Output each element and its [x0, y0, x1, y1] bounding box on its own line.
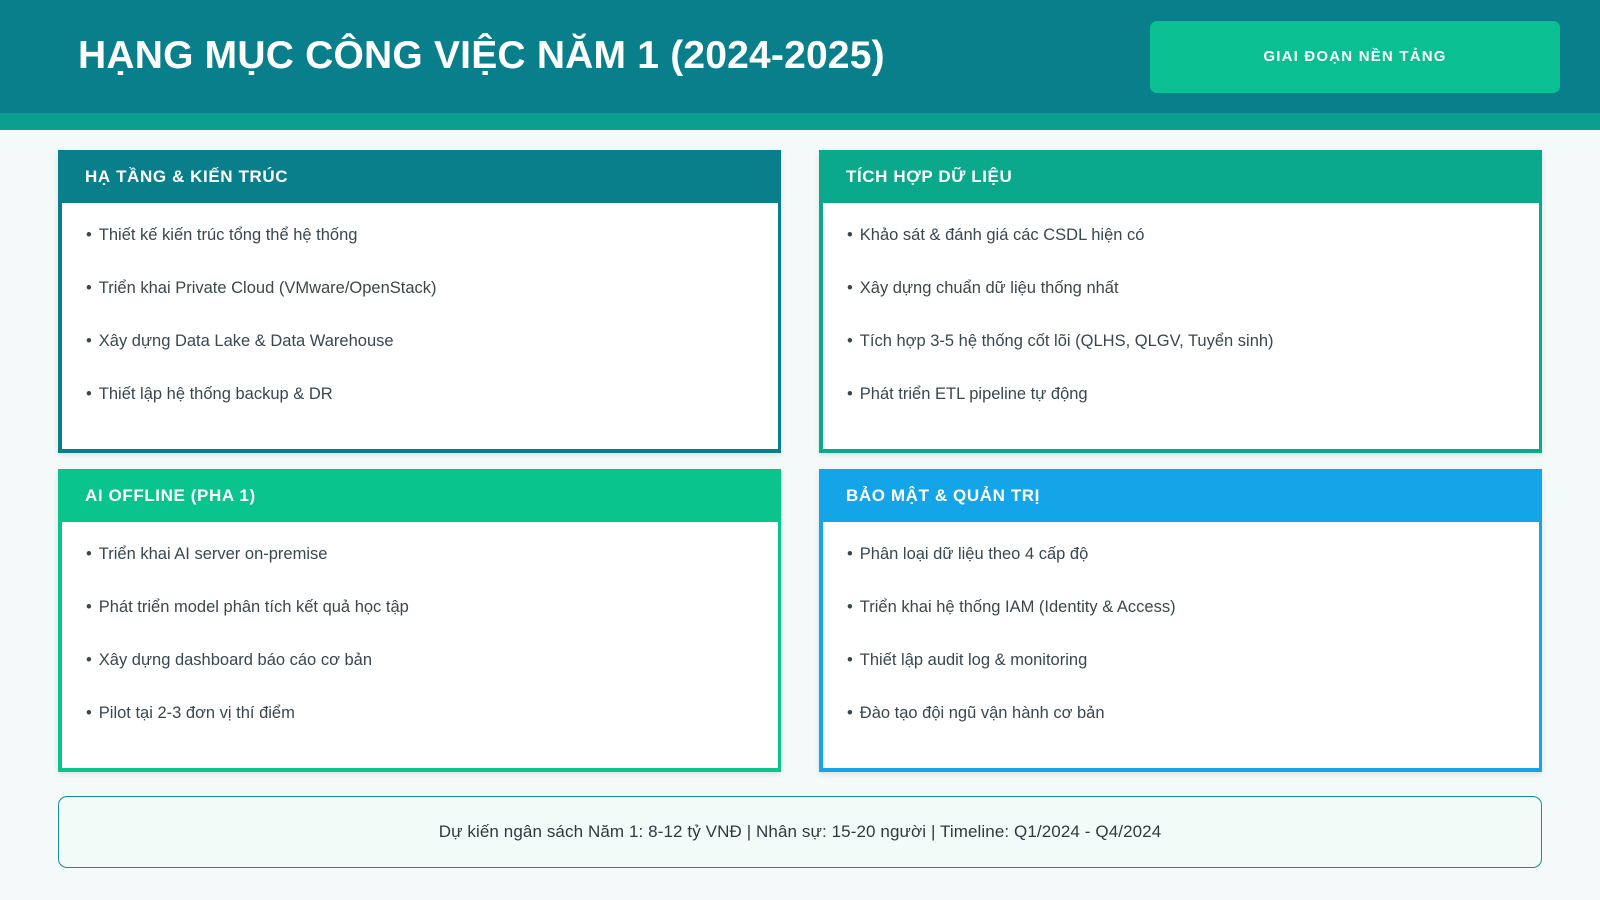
card-title: TÍCH HỢP DỮ LIỆU: [846, 167, 1012, 187]
list-item-label: Triển khai AI server on-premise: [99, 544, 754, 565]
list-item-label: Thiết lập hệ thống backup & DR: [99, 384, 754, 405]
bullet-icon: •: [847, 650, 853, 671]
card-infrastructure[interactable]: HẠ TẦNG & KIẾN TRÚC • Thiết kế kiến trúc…: [58, 150, 781, 453]
list-item: • Phát triển ETL pipeline tự động: [847, 384, 1515, 437]
bullet-icon: •: [86, 544, 92, 565]
card-header-security-governance: BẢO MẬT & QUẢN TRỊ: [819, 469, 1542, 522]
page-title: HẠNG MỤC CÔNG VIỆC NĂM 1 (2024-2025): [78, 35, 885, 78]
list-item: • Thiết lập hệ thống backup & DR: [86, 384, 754, 437]
list-item: • Triển khai Private Cloud (VMware/OpenS…: [86, 278, 754, 331]
bullet-icon: •: [86, 650, 92, 671]
list-item: • Triển khai AI server on-premise: [86, 544, 754, 597]
list-item: • Xây dựng Data Lake & Data Warehouse: [86, 331, 754, 384]
bullet-icon: •: [86, 597, 92, 618]
card-body-security-governance: • Phân loại dữ liệu theo 4 cấp độ • Triể…: [819, 522, 1542, 772]
slide-root: HẠNG MỤC CÔNG VIỆC NĂM 1 (2024-2025) GIA…: [0, 0, 1600, 900]
list-item-label: Phân loại dữ liệu theo 4 cấp độ: [860, 544, 1515, 565]
bullet-icon: •: [847, 544, 853, 565]
list-item-label: Thiết kế kiến trúc tổng thể hệ thống: [99, 225, 754, 246]
list-item: • Tích hợp 3-5 hệ thống cốt lõi (QLHS, Q…: [847, 331, 1515, 384]
card-body-infrastructure: • Thiết kế kiến trúc tổng thể hệ thống •…: [58, 203, 781, 453]
list-item: • Phát triển model phân tích kết quả học…: [86, 597, 754, 650]
card-ai-offline[interactable]: AI OFFLINE (PHA 1) • Triển khai AI serve…: [58, 469, 781, 772]
list-item-label: Triển khai Private Cloud (VMware/OpenSta…: [99, 278, 754, 299]
list-item: • Xây dựng chuẩn dữ liệu thống nhất: [847, 278, 1515, 331]
accent-stripe: [0, 113, 1600, 130]
list-item-label: Pilot tại 2-3 đơn vị thí điểm: [99, 703, 754, 724]
bullet-icon: •: [86, 278, 92, 299]
bullet-icon: •: [847, 384, 853, 405]
summary-footer: Dự kiến ngân sách Năm 1: 8-12 tỷ VNĐ | N…: [58, 796, 1542, 868]
card-title: BẢO MẬT & QUẢN TRỊ: [846, 486, 1040, 506]
phase-badge-label: GIAI ĐOẠN NỀN TẢNG: [1263, 48, 1446, 65]
list-item-label: Thiết lập audit log & monitoring: [860, 650, 1515, 671]
bullet-icon: •: [86, 331, 92, 352]
bullet-icon: •: [847, 597, 853, 618]
list-item-label: Khảo sát & đánh giá các CSDL hiện có: [860, 225, 1515, 246]
bullet-icon: •: [86, 703, 92, 724]
list-item-label: Đào tạo đội ngũ vận hành cơ bản: [860, 703, 1515, 724]
card-security-governance[interactable]: BẢO MẬT & QUẢN TRỊ • Phân loại dữ liệu t…: [819, 469, 1542, 772]
list-item-label: Xây dựng Data Lake & Data Warehouse: [99, 331, 754, 352]
bullet-icon: •: [847, 703, 853, 724]
bullet-icon: •: [86, 384, 92, 405]
phase-badge[interactable]: GIAI ĐOẠN NỀN TẢNG: [1150, 21, 1560, 93]
list-item: • Đào tạo đội ngũ vận hành cơ bản: [847, 703, 1515, 756]
list-item: • Thiết kế kiến trúc tổng thể hệ thống: [86, 225, 754, 278]
card-title: HẠ TẦNG & KIẾN TRÚC: [85, 167, 288, 187]
list-item: • Pilot tại 2-3 đơn vị thí điểm: [86, 703, 754, 756]
list-item: • Phân loại dữ liệu theo 4 cấp độ: [847, 544, 1515, 597]
card-title: AI OFFLINE (PHA 1): [85, 486, 256, 506]
slide-content: HẠ TẦNG & KIẾN TRÚC • Thiết kế kiến trúc…: [0, 130, 1600, 900]
list-item-label: Xây dựng chuẩn dữ liệu thống nhất: [860, 278, 1515, 299]
bullet-icon: •: [86, 225, 92, 246]
list-item: • Triển khai hệ thống IAM (Identity & Ac…: [847, 597, 1515, 650]
card-header-ai-offline: AI OFFLINE (PHA 1): [58, 469, 781, 522]
list-item: • Khảo sát & đánh giá các CSDL hiện có: [847, 225, 1515, 278]
list-item-label: Tích hợp 3-5 hệ thống cốt lõi (QLHS, QLG…: [860, 331, 1515, 352]
list-item-label: Triển khai hệ thống IAM (Identity & Acce…: [860, 597, 1515, 618]
list-item: • Thiết lập audit log & monitoring: [847, 650, 1515, 703]
card-data-integration[interactable]: TÍCH HỢP DỮ LIỆU • Khảo sát & đánh giá c…: [819, 150, 1542, 453]
card-header-data-integration: TÍCH HỢP DỮ LIỆU: [819, 150, 1542, 203]
slide-header: HẠNG MỤC CÔNG VIỆC NĂM 1 (2024-2025) GIA…: [0, 0, 1600, 113]
card-body-data-integration: • Khảo sát & đánh giá các CSDL hiện có •…: [819, 203, 1542, 453]
card-grid: HẠ TẦNG & KIẾN TRÚC • Thiết kế kiến trúc…: [58, 150, 1542, 772]
bullet-icon: •: [847, 225, 853, 246]
list-item-label: Phát triển model phân tích kết quả học t…: [99, 597, 754, 618]
list-item: • Xây dựng dashboard báo cáo cơ bản: [86, 650, 754, 703]
card-body-ai-offline: • Triển khai AI server on-premise • Phát…: [58, 522, 781, 772]
card-header-infrastructure: HẠ TẦNG & KIẾN TRÚC: [58, 150, 781, 203]
bullet-icon: •: [847, 278, 853, 299]
summary-footer-text: Dự kiến ngân sách Năm 1: 8-12 tỷ VNĐ | N…: [439, 822, 1162, 842]
bullet-icon: •: [847, 331, 853, 352]
list-item-label: Xây dựng dashboard báo cáo cơ bản: [99, 650, 754, 671]
list-item-label: Phát triển ETL pipeline tự động: [860, 384, 1515, 405]
